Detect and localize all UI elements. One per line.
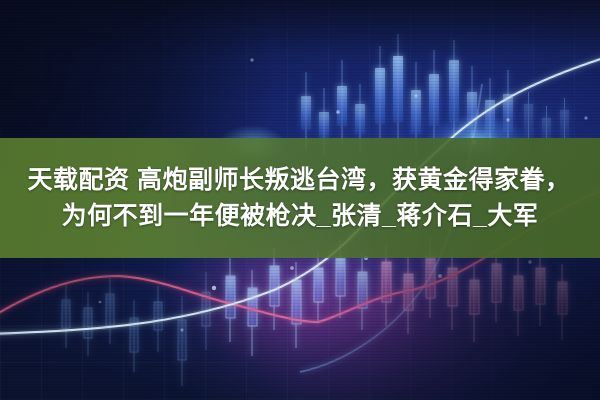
thumbnail-canvas: 天载配资 高炮副师长叛逃台湾，获黄金得家眷， 为何不到一年便被枪决_张清_蒋介石…: [0, 0, 600, 400]
headline-line-1: 天载配资 高炮副师长叛逃台湾，获黄金得家眷，: [28, 163, 573, 198]
headline-banner: 天载配资 高炮副师长叛逃台湾，获黄金得家眷， 为何不到一年便被枪决_张清_蒋介石…: [0, 138, 600, 258]
headline-line-2: 为何不到一年便被枪决_张清_蒋介石_大军: [62, 199, 539, 234]
